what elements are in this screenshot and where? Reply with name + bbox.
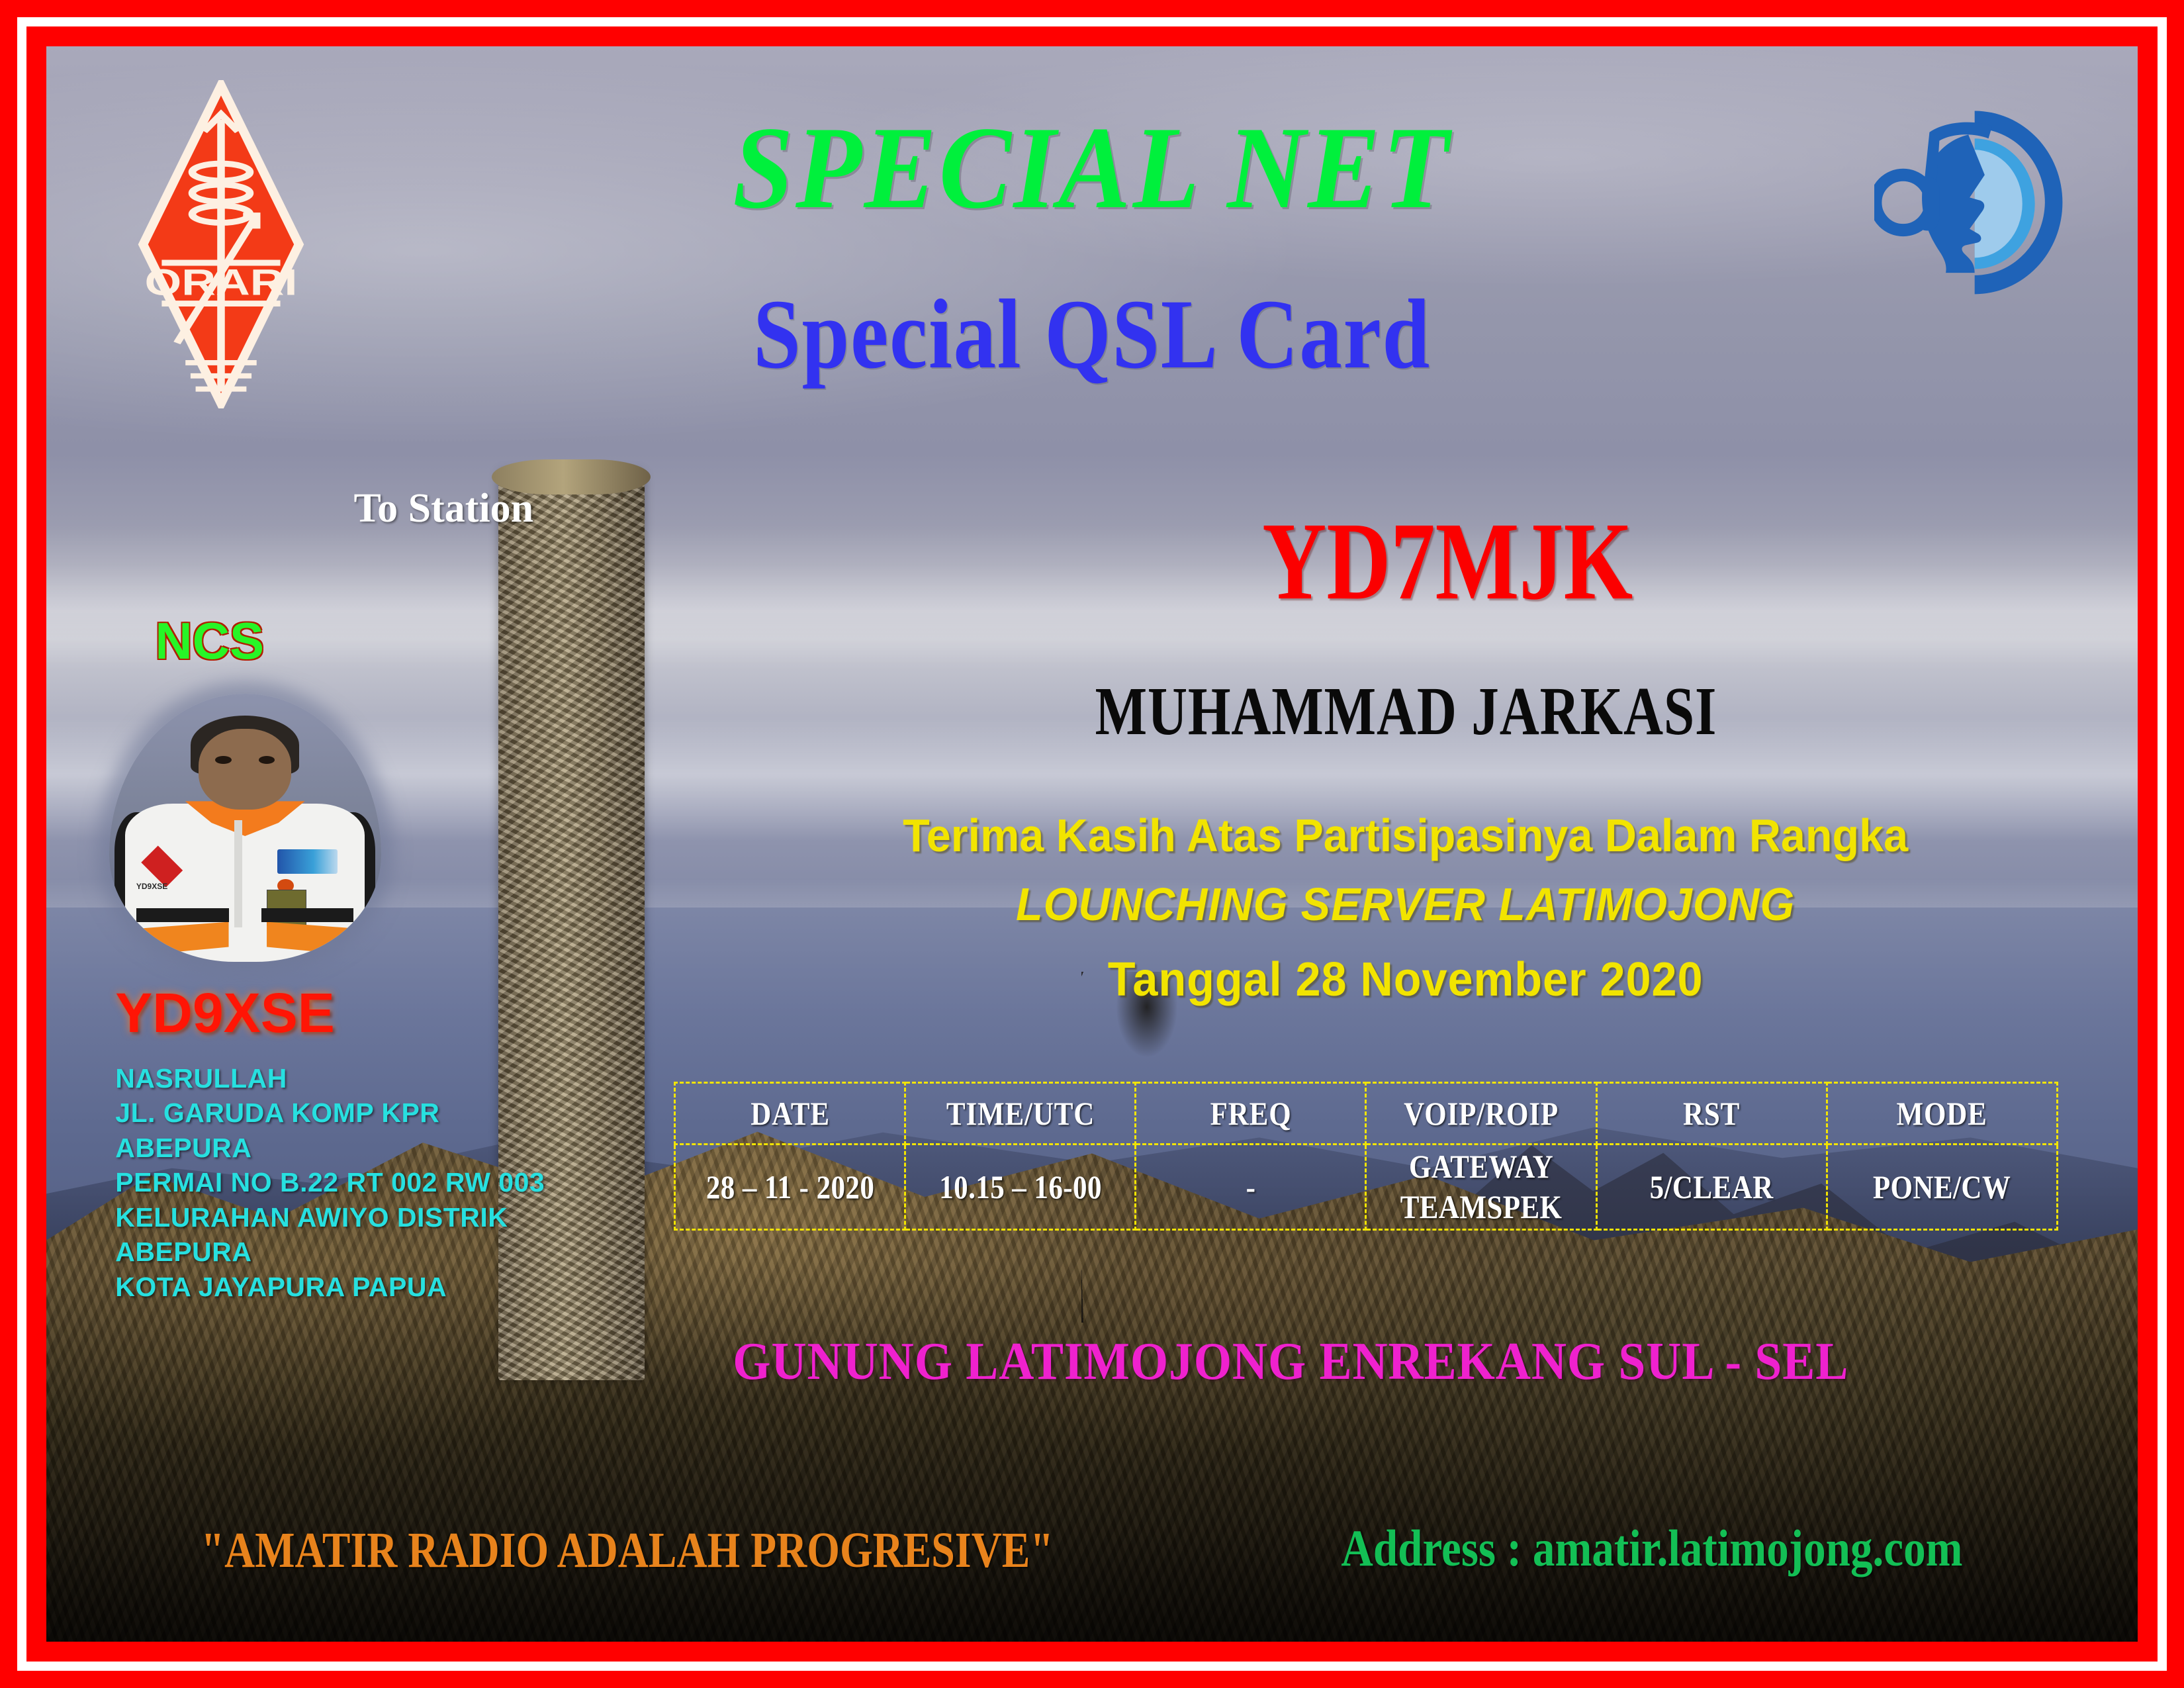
page-title: SPECIAL NET <box>130 99 2054 236</box>
cell-voip-roip-line1: GATEWAY <box>1383 1147 1578 1187</box>
ncs-label: NCS <box>155 611 264 671</box>
table-header-row: DATE TIME/UTC FREQ VOIP/ROIP RST MODE <box>675 1083 2058 1145</box>
thanks-line-1: Terima Kasih Atas Partisipasinya Dalam R… <box>790 809 2021 862</box>
address-line: ABEPURA <box>115 1131 545 1165</box>
card-frame-white: ORARI SPECIAL NET Specia <box>17 17 2167 1671</box>
card-background-photo: ORARI SPECIAL NET Specia <box>46 46 2138 1642</box>
station-address: NASRULLAH JL. GARUDA KOMP KPR ABEPURA PE… <box>115 1061 545 1304</box>
column-header-rst: RST <box>1612 1083 1810 1145</box>
cell-rst: 5/CLEAR <box>1612 1145 1810 1230</box>
avatar-shirt-placket <box>234 820 242 927</box>
avatar-eye-left <box>215 756 232 764</box>
avatar-belt-right <box>261 908 354 921</box>
operator-name: MUHAMMAD JARKASI <box>921 672 1891 751</box>
ncs-callsign: YD9XSE <box>115 981 335 1045</box>
address-line: ABEPURA <box>115 1235 545 1269</box>
address-line: JL. GARUDA KOMP KPR <box>115 1096 545 1130</box>
to-station-callsign: YD7MJK <box>996 498 1899 626</box>
web-address: Address : amatir.latimojong.com <box>1342 1519 1963 1578</box>
page-subtitle: Special QSL Card <box>193 277 1991 391</box>
avatar-face <box>199 729 291 809</box>
pillar-grass-tuft <box>621 445 726 500</box>
avatar-shirt-callsign: YD9XSE <box>136 882 229 895</box>
avatar-eye-right <box>259 756 275 764</box>
card-frame-red-inner: ORARI SPECIAL NET Specia <box>26 26 2158 1662</box>
table-row: 28 – 11 - 2020 10.15 – 16-00 - GATEWAY T… <box>675 1145 2058 1230</box>
qsl-card: ORARI SPECIAL NET Specia <box>0 0 2184 1688</box>
cell-date: 28 – 11 - 2020 <box>691 1145 889 1230</box>
address-line: KOTA JAYAPURA PAPUA <box>115 1270 545 1304</box>
column-header-date: DATE <box>691 1083 889 1145</box>
column-header-mode: MODE <box>1843 1083 2041 1145</box>
thanks-line-2: LOUNCHING SERVER LATIMOJONG <box>790 878 2021 931</box>
column-header-time: TIME/UTC <box>921 1083 1119 1145</box>
event-location: GUNUNG LATIMOJONG ENREKANG SUL - SEL <box>733 1332 1848 1392</box>
column-header-freq: FREQ <box>1152 1083 1349 1145</box>
club-motto: "AMATIR RADIO ADALAH PROGRESIVE" <box>201 1522 1053 1579</box>
cell-voip-roip-line2: TEAMSPEK <box>1383 1187 1578 1227</box>
address-line: KELURAHAN AWIYO DISTRIK <box>115 1200 545 1235</box>
address-line: PERMAI NO B.22 RT 002 RW 003 <box>115 1165 545 1199</box>
column-header-voip-roip: VOIP/ROIP <box>1382 1083 1580 1145</box>
avatar-club-patch <box>277 849 337 873</box>
qso-log-table: DATE TIME/UTC FREQ VOIP/ROIP RST MODE 28… <box>674 1082 2058 1231</box>
to-station-label: To Station <box>354 485 534 532</box>
cell-voip-roip: GATEWAY TEAMSPEK <box>1382 1145 1580 1230</box>
thanks-line-3: Tanggal 28 November 2020 <box>790 953 2021 1007</box>
cell-freq: - <box>1152 1145 1349 1230</box>
cell-time: 10.15 – 16-00 <box>921 1145 1119 1230</box>
cell-mode: PONE/CW <box>1843 1145 2041 1230</box>
avatar-belt-left <box>136 908 229 921</box>
address-line: NASRULLAH <box>115 1061 545 1096</box>
